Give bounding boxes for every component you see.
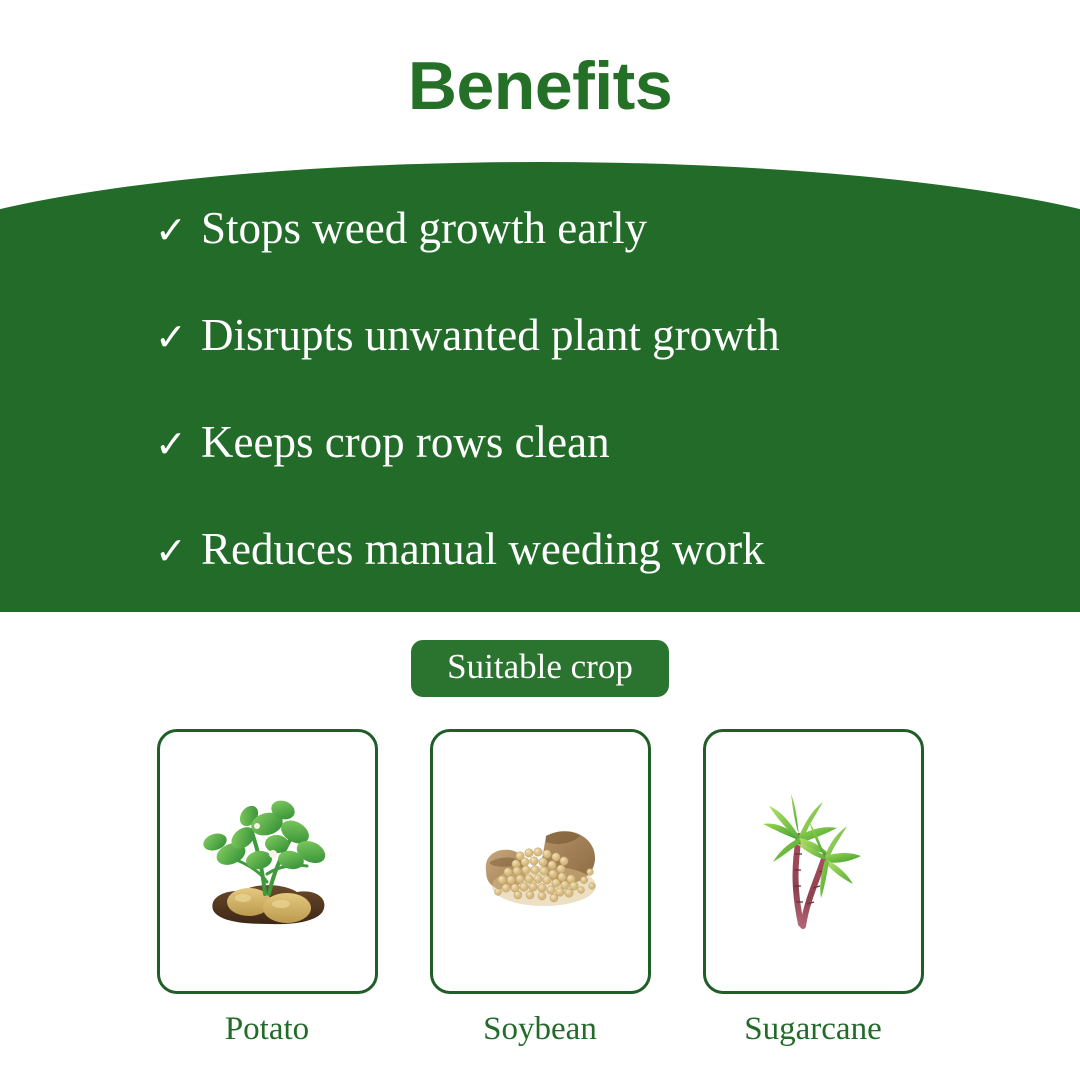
crop-label-sugarcane: Sugarcane [744,1013,881,1046]
check-icon: ✓ [155,211,201,249]
suitable-crop-badge: Suitable crop [411,640,669,697]
soybean-sack-icon [460,782,620,942]
crop-card-potato[interactable] [157,729,378,994]
benefit-text: Reduces manual weeding work [201,527,765,572]
benefit-item: ✓ Reduces manual weeding work [155,527,1040,612]
crop-cell-sugarcane: Sugarcane [703,729,924,1046]
suitable-crops-row: Potato [0,729,1080,1046]
benefits-banner: ✓ Stops weed growth early ✓ Disrupts unw… [0,150,1080,612]
check-icon: ✓ [155,425,201,463]
crop-cell-soybean: Soybean [430,729,651,1046]
crop-cell-potato: Potato [157,729,378,1046]
check-icon: ✓ [155,318,201,356]
benefit-item: ✓ Stops weed growth early [155,206,1040,313]
potato-plant-icon [187,782,347,942]
sugarcane-stalks-icon [733,782,893,942]
benefit-text: Disrupts unwanted plant growth [201,313,780,358]
benefits-list: ✓ Stops weed growth early ✓ Disrupts unw… [0,150,1080,612]
benefit-text: Stops weed growth early [201,206,647,251]
benefit-text: Keeps crop rows clean [201,420,610,465]
page-title: Benefits [408,52,672,120]
benefit-item: ✓ Keeps crop rows clean [155,420,1040,527]
crop-card-soybean[interactable] [430,729,651,994]
suitable-crop-area: Suitable crop [0,640,1080,697]
crop-label-soybean: Soybean [483,1013,597,1046]
crop-label-potato: Potato [225,1013,309,1046]
crop-card-sugarcane[interactable] [703,729,924,994]
title-area: Benefits [0,0,1080,150]
benefit-item: ✓ Disrupts unwanted plant growth [155,313,1040,420]
check-icon: ✓ [155,532,201,570]
